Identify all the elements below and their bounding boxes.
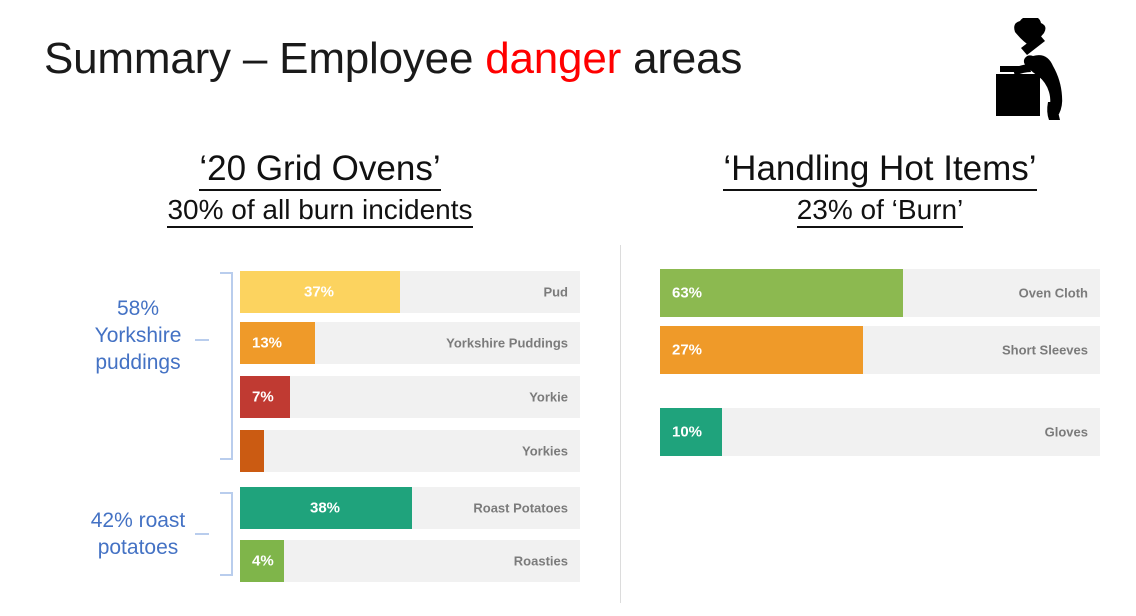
bar-category-label: Yorkies	[522, 444, 568, 459]
bar-category-label: Yorkie	[529, 390, 568, 405]
annotation-line: 58%	[58, 296, 218, 323]
bar-row[interactable]: 37%Pud	[240, 271, 580, 313]
bar-value-label: 7%	[252, 389, 274, 406]
annotation-yorkshire-puddings: 58% Yorkshire puddings	[58, 296, 218, 377]
bar-track	[660, 408, 1100, 456]
bar-value-label: 10%	[672, 424, 702, 441]
right-panel-heading: ‘Handling Hot Items’ 23% of ‘Burn’	[640, 150, 1120, 228]
annotation-line: Yorkshire	[58, 323, 218, 350]
left-panel-subtitle: 30% of all burn incidents	[167, 194, 472, 228]
annotation-roast-potatoes: 42% roast potatoes	[58, 508, 218, 562]
bar-category-label: Roasties	[514, 554, 568, 569]
bar-row[interactable]: 63%Oven Cloth	[660, 269, 1100, 317]
bar-value-label: 4%	[252, 553, 274, 570]
bar-row[interactable]: 13%Yorkshire Puddings	[240, 322, 580, 364]
chef-lifting-tray-icon	[985, 18, 1095, 126]
bar-category-label: Pud	[543, 285, 568, 300]
bar-category-label: Roast Potatoes	[473, 501, 568, 516]
bar-category-label: Oven Cloth	[1019, 286, 1088, 301]
right-panel-subtitle: 23% of ‘Burn’	[797, 194, 964, 228]
annotation-line: puddings	[58, 350, 218, 377]
annotation-line: 42% roast	[58, 508, 218, 535]
bar-value-label: 13%	[252, 335, 282, 352]
left-panel-title: ‘20 Grid Ovens’	[199, 150, 440, 191]
bar-category-label: Short Sleeves	[1002, 343, 1088, 358]
page-title: Summary – Employee danger areas	[44, 34, 742, 84]
brace-tip-top	[220, 492, 233, 494]
bar-value-label: 27%	[672, 342, 702, 359]
panel-divider	[620, 245, 621, 603]
bar-row[interactable]: 27%Short Sleeves	[660, 326, 1100, 374]
title-suffix: areas	[621, 34, 742, 83]
title-highlight: danger	[485, 34, 621, 83]
bar-row[interactable]: Yorkies	[240, 430, 580, 472]
brace-spine	[231, 492, 233, 576]
brace-tip-bottom	[220, 574, 233, 576]
bar-row[interactable]: 10%Gloves	[660, 408, 1100, 456]
brace-tip-top	[220, 272, 233, 274]
bar-fill	[240, 430, 264, 472]
bar-value-label: 63%	[672, 285, 702, 302]
brace-tip-bottom	[220, 458, 233, 460]
left-panel-heading: ‘20 Grid Ovens’ 30% of all burn incident…	[20, 150, 620, 228]
bar-row[interactable]: 4%Roasties	[240, 540, 580, 582]
bar-category-label: Yorkshire Puddings	[446, 336, 568, 351]
bar-row[interactable]: 38%Roast Potatoes	[240, 487, 580, 529]
bar-value-label: 37%	[304, 284, 334, 301]
title-prefix: Summary – Employee	[44, 34, 485, 83]
right-panel-title: ‘Handling Hot Items’	[723, 150, 1036, 191]
slide: Summary – Employee danger areas ‘20 Grid…	[0, 0, 1136, 616]
bar-row[interactable]: 7%Yorkie	[240, 376, 580, 418]
bar-category-label: Gloves	[1045, 425, 1088, 440]
annotation-line: potatoes	[58, 535, 218, 562]
bar-value-label: 38%	[310, 500, 340, 517]
brace-spine	[231, 272, 233, 460]
